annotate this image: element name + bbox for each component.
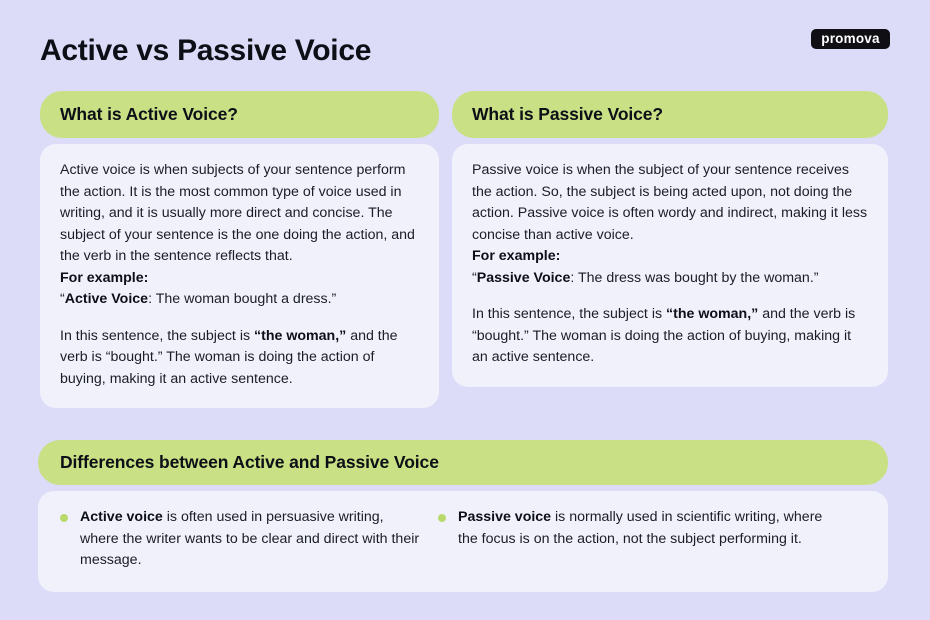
passive-example-sentence: “Passive Voice: The dress was bought by …	[472, 268, 868, 290]
list-item: Active voice is often used in persuasive…	[60, 507, 438, 572]
active-explanation-paragraph: In this sentence, the subject is “the wo…	[60, 326, 419, 391]
active-definition-paragraph: Active voice is when subjects of your se…	[60, 160, 419, 268]
list-item: Passive voice is normally used in scient…	[438, 507, 838, 572]
active-voice-column: What is Active Voice? Active voice is wh…	[40, 91, 439, 408]
page-title: Active vs Passive Voice	[40, 33, 371, 69]
active-voice-card: Active voice is when subjects of your se…	[40, 144, 439, 408]
differences-section: Differences between Active and Passive V…	[38, 440, 888, 592]
passive-for-example-label: For example:	[472, 246, 868, 268]
active-example-sentence: “Active Voice: The woman bought a dress.…	[60, 289, 419, 311]
active-for-example-label: For example:	[60, 268, 419, 290]
promova-logo: promova	[811, 29, 890, 49]
active-voice-heading: What is Active Voice?	[60, 106, 238, 124]
passive-voice-card: Passive voice is when the subject of you…	[452, 144, 888, 387]
passive-voice-header: What is Passive Voice?	[452, 91, 888, 138]
differences-header: Differences between Active and Passive V…	[38, 440, 888, 485]
differences-card: Active voice is often used in persuasive…	[38, 491, 888, 592]
passive-voice-heading: What is Passive Voice?	[472, 106, 663, 124]
differences-heading: Differences between Active and Passive V…	[60, 454, 439, 472]
active-voice-difference-text: Active voice is often used in persuasive…	[80, 507, 424, 572]
bullet-dot-icon	[438, 514, 446, 522]
passive-voice-column: What is Passive Voice? Passive voice is …	[452, 91, 888, 387]
passive-explanation-paragraph: In this sentence, the subject is “the wo…	[472, 304, 868, 369]
active-voice-header: What is Active Voice?	[40, 91, 439, 138]
bullet-dot-icon	[60, 514, 68, 522]
logo-text: promova	[821, 32, 879, 46]
passive-voice-difference-text: Passive voice is normally used in scient…	[458, 507, 838, 550]
passive-definition-paragraph: Passive voice is when the subject of you…	[472, 160, 868, 246]
